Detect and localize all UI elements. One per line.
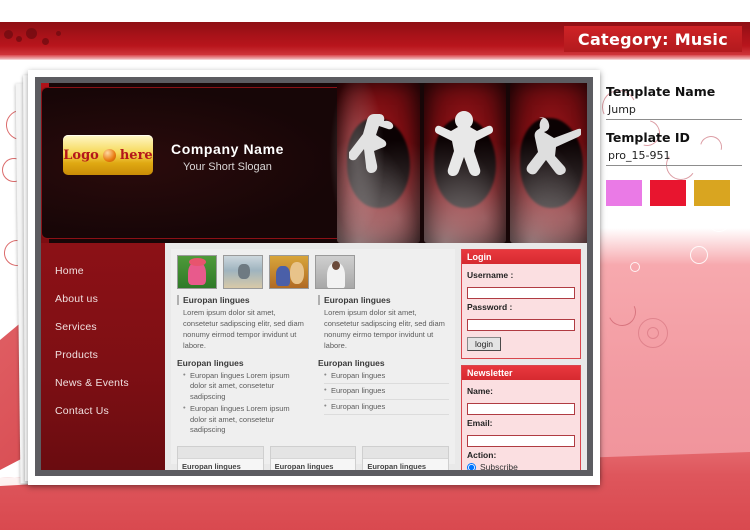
website-preview: Logo here Company Name Your Short Slogan <box>41 83 587 470</box>
section-paragraph: Lorem ipsum dolor sit amet, consetetur s… <box>177 308 308 352</box>
dancer-silhouette-icon <box>435 109 493 201</box>
site-hero: Logo here Company Name Your Short Slogan <box>41 83 587 243</box>
nav-item-news-events[interactable]: News & Events <box>55 369 165 397</box>
template-name-value: Jump <box>606 99 742 120</box>
hero-panel-dancer-1 <box>337 83 420 243</box>
section-heading: Europan lingues <box>177 295 308 305</box>
newsletter-widget-body: Name: Email: Action: Subscribe <box>462 380 580 470</box>
newsletter-widget: Newsletter Name: Email: Action: Subscrib… <box>461 365 581 470</box>
product-image-placeholder <box>271 447 356 459</box>
company-slogan: Your Short Slogan <box>183 161 272 173</box>
nav-item-home[interactable]: Home <box>55 257 165 285</box>
site-content: Europan lingues Lorem ipsum dolor sit am… <box>165 243 587 470</box>
list-item: Europan lingues <box>324 402 449 416</box>
product-title: Europan lingues <box>271 459 356 471</box>
dancer-silhouette-icon <box>519 115 581 199</box>
gallery-thumbnail[interactable] <box>177 255 217 289</box>
list-item: Europan lingues <box>324 371 449 385</box>
ring-decoration <box>656 212 670 226</box>
bubble-decoration <box>0 22 150 56</box>
bullet-list: Europan lingues Lorem ipsum dolor sit am… <box>177 371 308 436</box>
template-info-panel: Template Name Jump Template ID pro_15-95… <box>606 74 742 206</box>
content-sidebar: Login Username : Password : login Newsle… <box>461 249 581 464</box>
content-column-right: Europan lingues Lorem ipsum dolor sit am… <box>318 295 449 438</box>
swirl-decoration <box>604 294 640 330</box>
content-column-left: Europan lingues Lorem ipsum dolor sit am… <box>177 295 308 438</box>
product-title: Europan lingues <box>178 459 263 471</box>
newsletter-email-label: Email: <box>467 418 575 428</box>
template-id-label: Template ID <box>606 130 742 145</box>
ring-decoration <box>690 246 708 264</box>
product-card[interactable]: Europan lingues Fabulosity $10 <box>362 446 449 471</box>
ring-decoration <box>630 262 640 272</box>
nav-item-products[interactable]: Products <box>55 341 165 369</box>
product-card-row: Europan lingues Fabulosity $10 Europan l… <box>177 446 449 471</box>
thumbnail-gallery <box>177 255 449 289</box>
logo-orb-icon <box>103 149 116 162</box>
gallery-thumbnail[interactable] <box>315 255 355 289</box>
username-input[interactable] <box>467 287 575 299</box>
newsletter-name-input[interactable] <box>467 403 575 415</box>
list-item: Europan lingues Lorem ipsum dolor sit am… <box>183 371 308 403</box>
flower-decoration <box>638 318 668 348</box>
category-badge: Category: Music <box>564 26 742 52</box>
dancer-silhouette-icon <box>349 112 401 198</box>
section-subheading: Europan lingues <box>318 358 449 368</box>
list-item: Europan lingues Lorem ipsum dolor sit am… <box>183 404 308 436</box>
list-item: Europan lingues <box>324 386 449 400</box>
gallery-thumbnail[interactable] <box>269 255 309 289</box>
content-two-columns: Europan lingues Lorem ipsum dolor sit am… <box>177 295 449 438</box>
newsletter-widget-title: Newsletter <box>462 366 580 380</box>
site-body: Home About us Services Products News & E… <box>41 243 587 470</box>
subscribe-label: Subscribe <box>480 462 518 470</box>
ring-decoration <box>708 210 730 232</box>
hero-panel-dancer-3 <box>510 83 587 243</box>
product-card[interactable]: Europan lingues Fabulosity $10 <box>177 446 264 471</box>
nav-item-about-us[interactable]: About us <box>55 285 165 313</box>
product-card[interactable]: Europan lingues Fabulosity $10 <box>270 446 357 471</box>
newsletter-action-label: Action: <box>467 450 575 460</box>
newsletter-name-label: Name: <box>467 386 575 396</box>
newsletter-email-input[interactable] <box>467 435 575 447</box>
logo-word-right: here <box>120 148 153 163</box>
screenshot-root: Category: Music Logo here Company Name Y… <box>0 0 750 530</box>
password-label: Password : <box>467 302 575 312</box>
nav-item-services[interactable]: Services <box>55 313 165 341</box>
login-widget-body: Username : Password : login <box>462 264 580 358</box>
login-widget: Login Username : Password : login <box>461 249 581 359</box>
logo-word-left: Logo <box>63 148 99 163</box>
template-id-value: pro_15-951 <box>606 145 742 166</box>
gallery-thumbnail[interactable] <box>223 255 263 289</box>
hero-panel-dancer-2 <box>424 83 507 243</box>
template-preview-frame[interactable]: Logo here Company Name Your Short Slogan <box>28 70 600 485</box>
site-logo[interactable]: Logo here <box>63 135 153 175</box>
bullet-list: Europan lingues Europan lingues Europan … <box>318 371 449 416</box>
password-input[interactable] <box>467 319 575 331</box>
radio-row-subscribe[interactable]: Subscribe <box>467 462 575 470</box>
site-navigation: Home About us Services Products News & E… <box>41 243 165 470</box>
section-heading: Europan lingues <box>318 295 449 305</box>
preview-inner-border: Logo here Company Name Your Short Slogan <box>35 77 593 476</box>
color-swatch-red[interactable] <box>650 180 686 206</box>
color-swatch-pink[interactable] <box>606 180 642 206</box>
username-label: Username : <box>467 270 575 280</box>
product-image-placeholder <box>178 447 263 459</box>
login-widget-title: Login <box>462 250 580 264</box>
template-name-label: Template Name <box>606 84 742 99</box>
product-title: Europan lingues <box>363 459 448 471</box>
company-name: Company Name <box>171 141 284 157</box>
color-swatch-gold[interactable] <box>694 180 730 206</box>
subscribe-radio[interactable] <box>467 463 476 471</box>
login-button[interactable]: login <box>467 337 501 351</box>
product-image-placeholder <box>363 447 448 459</box>
color-swatch-row <box>606 180 742 206</box>
nav-item-contact-us[interactable]: Contact Us <box>55 397 165 425</box>
section-paragraph: Lorem ipsum dolor sit amet, consetetur s… <box>318 308 449 352</box>
hero-image-panels <box>337 83 587 243</box>
section-subheading: Europan lingues <box>177 358 308 368</box>
content-main-column: Europan lingues Lorem ipsum dolor sit am… <box>171 249 455 464</box>
